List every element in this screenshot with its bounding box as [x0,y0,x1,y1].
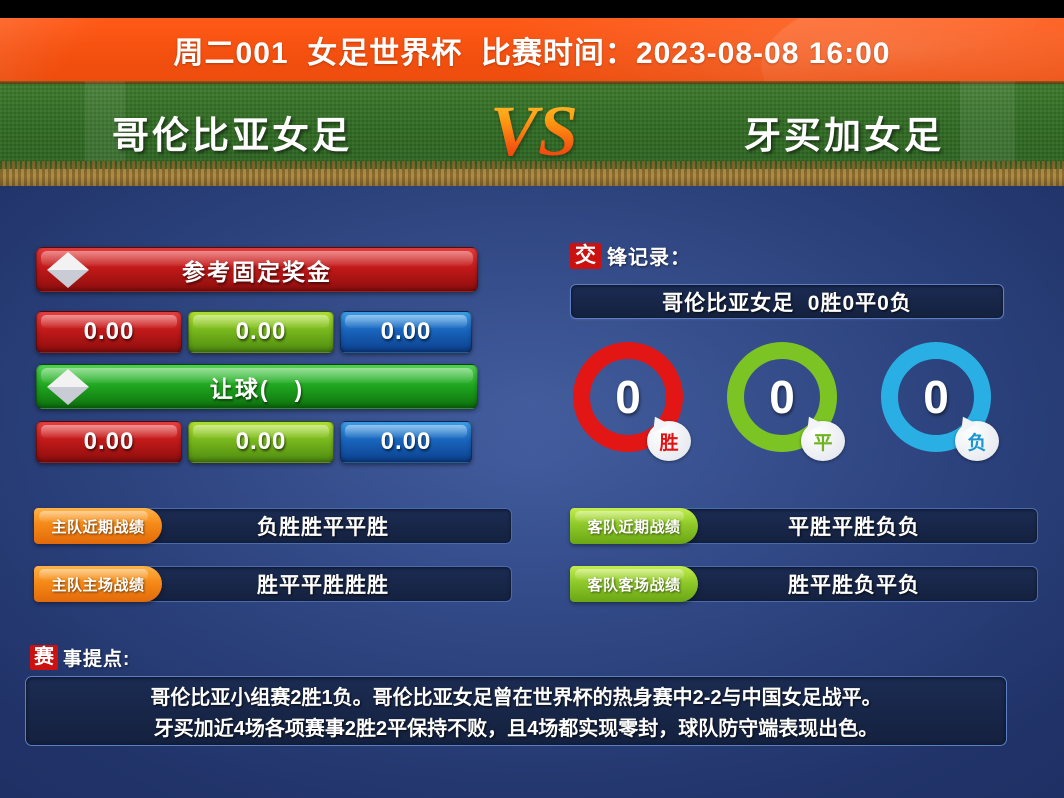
away-team-name: 牙买加女足 [744,101,944,163]
odds-gloss [41,315,177,328]
match-header-banner: 周二001 女足世界杯 比赛时间：2023-08-08 16:00 [0,18,1064,81]
pill-gloss [575,569,684,580]
pill-gloss [575,511,684,522]
h2h-win-ring: 0 胜 [573,342,683,457]
diamond-icon [47,249,89,291]
odds-handicap-draw[interactable]: 0.00 [188,421,334,463]
home-team-name: 哥伦比亚女足 [112,101,352,163]
odds-gloss [345,425,467,438]
odds-fixed-away[interactable]: 0.00 [340,311,472,353]
home-home-form-value: 胜平平胜胜胜 [134,566,512,602]
odds-handicap-away[interactable]: 0.00 [340,421,472,463]
h2h-lose-ring: 0 负 [881,342,991,457]
away-recent-form-value: 平胜平胜负负 [670,508,1038,544]
pill-gloss [39,569,148,580]
home-recent-form-row: 负胜胜平平胜 主队近期战绩 [34,508,512,544]
h2h-draw-ring: 0 平 [727,342,837,457]
away-away-form-row: 胜平胜负平负 客队客场战绩 [570,566,1038,602]
handicap-banner: 让球( ) [36,364,478,409]
analysis-title-text: 事提点: [63,644,130,671]
lose-badge: 负 [955,421,999,461]
odds-gloss [193,315,329,328]
head-to-head-tag: 交 [570,243,601,269]
odds-gloss [345,315,467,328]
handicap-banner-label: 让球( ) [210,370,304,404]
header-title: 周二001 女足世界杯 比赛时间：2023-08-08 16:00 [0,18,1064,81]
home-recent-form-value: 负胜胜平平胜 [134,508,512,544]
away-recent-form-row: 平胜平胜负负 客队近期战绩 [570,508,1038,544]
fixed-prize-banner-label: 参考固定奖金 [182,253,332,287]
vs-logo-icon: VS [490,88,576,188]
analysis-line-1: 哥伦比亚小组赛2胜1负。哥伦比亚女足曾在世界杯的热身赛中2-2与中国女足战平。 [150,681,881,710]
odds-handicap-home[interactable]: 0.00 [36,421,182,463]
top-black-strip [0,0,1064,18]
away-away-form-label: 客队客场战绩 [570,566,698,602]
odds-fixed-home[interactable]: 0.00 [36,311,182,353]
match-preview-page: 周二001 女足世界杯 比赛时间：2023-08-08 16:00 哥伦比亚女足… [0,0,1064,798]
away-away-form-value: 胜平胜负平负 [670,566,1038,602]
home-home-form-row: 胜平平胜胜胜 主队主场战绩 [34,566,512,602]
away-recent-form-label: 客队近期战绩 [570,508,698,544]
home-home-form-label: 主队主场战绩 [34,566,162,602]
analysis-title: 赛 事提点: [30,644,130,671]
home-recent-form-label: 主队近期战绩 [34,508,162,544]
odds-fixed-draw[interactable]: 0.00 [188,311,334,353]
analysis-box: 哥伦比亚小组赛2胜1负。哥伦比亚女足曾在世界杯的热身赛中2-2与中国女足战平。 … [25,676,1007,746]
fixed-prize-banner: 参考固定奖金 [36,247,478,292]
head-to-head-title-text: 锋记录： [607,241,691,270]
head-to-head-record-bar: 哥伦比亚女足 0胜0平0负 [570,284,1004,319]
diamond-icon [47,366,89,408]
analysis-tag: 赛 [30,645,58,670]
odds-gloss [41,425,177,438]
odds-gloss [193,425,329,438]
analysis-line-2: 牙买加近4场各项赛事2胜2平保持不败，且4场都实现零封，球队防守端表现出色。 [154,712,879,741]
win-badge: 胜 [647,421,691,461]
draw-badge: 平 [801,421,845,461]
pill-gloss [39,511,148,522]
field-top-line [0,81,1064,84]
head-to-head-title: 交 锋记录： [570,241,691,270]
